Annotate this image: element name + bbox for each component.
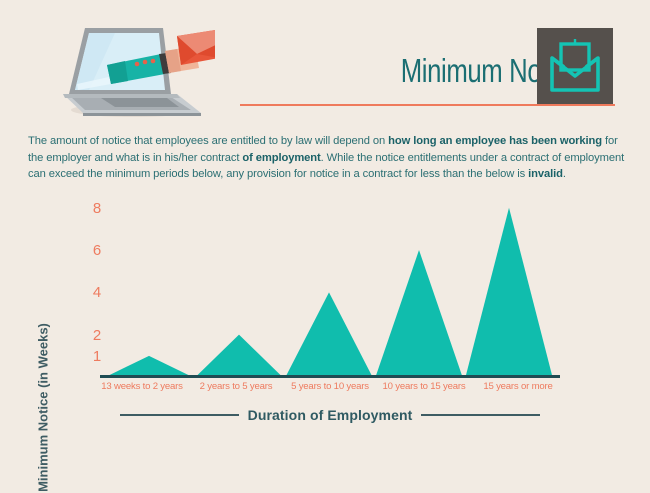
intro-paragraph: The amount of notice that employees are … xyxy=(28,133,626,183)
x-axis-category-label: 2 years to 5 years xyxy=(189,381,283,392)
intro-bold-2: of employment xyxy=(242,152,320,164)
x-axis-category-label: 15 years or more xyxy=(471,381,565,392)
peak-3 xyxy=(286,292,373,377)
peak-5 xyxy=(466,208,553,377)
peak-1 xyxy=(106,356,193,377)
triangle-peaks-series xyxy=(104,195,554,377)
x-axis-category-label: 13 weeks to 2 years xyxy=(95,381,189,392)
header: Minimum Notice xyxy=(0,0,650,125)
intro-bold-1: how long an employee has been working xyxy=(388,135,602,147)
minimum-notice-chart: Minimum Notice (in Weeks) 86421 13 weeks… xyxy=(0,195,650,460)
x-axis-title-rule-left xyxy=(120,414,239,416)
title-divider xyxy=(240,104,615,106)
x-axis-category-label: 10 years to 15 years xyxy=(377,381,471,392)
x-axis-title-row: Duration of Employment xyxy=(120,407,540,423)
x-axis-baseline xyxy=(100,375,560,378)
infographic-page: Minimum Notice The amount of notice that… xyxy=(0,0,650,460)
x-axis-category-label: 5 years to 10 years xyxy=(283,381,377,392)
page-title: Minimum Notice xyxy=(401,52,545,90)
intro-text-1: The amount of notice that employees are … xyxy=(28,135,388,147)
laptop-with-hand-delivering-envelope-icon xyxy=(55,18,215,118)
x-axis-title: Duration of Employment xyxy=(248,407,413,423)
intro-bold-3: invalid xyxy=(528,168,563,180)
open-envelope-with-letter-icon xyxy=(537,28,613,104)
x-axis-category-labels: 13 weeks to 2 years2 years to 5 years5 y… xyxy=(95,381,565,392)
y-axis-title: Minimum Notice (in Weeks) xyxy=(36,323,51,493)
plot-area xyxy=(104,195,554,377)
x-axis-title-rule-right xyxy=(421,414,540,416)
peak-2 xyxy=(196,335,283,377)
intro-text-4: . xyxy=(563,168,566,180)
peak-4 xyxy=(376,250,463,377)
